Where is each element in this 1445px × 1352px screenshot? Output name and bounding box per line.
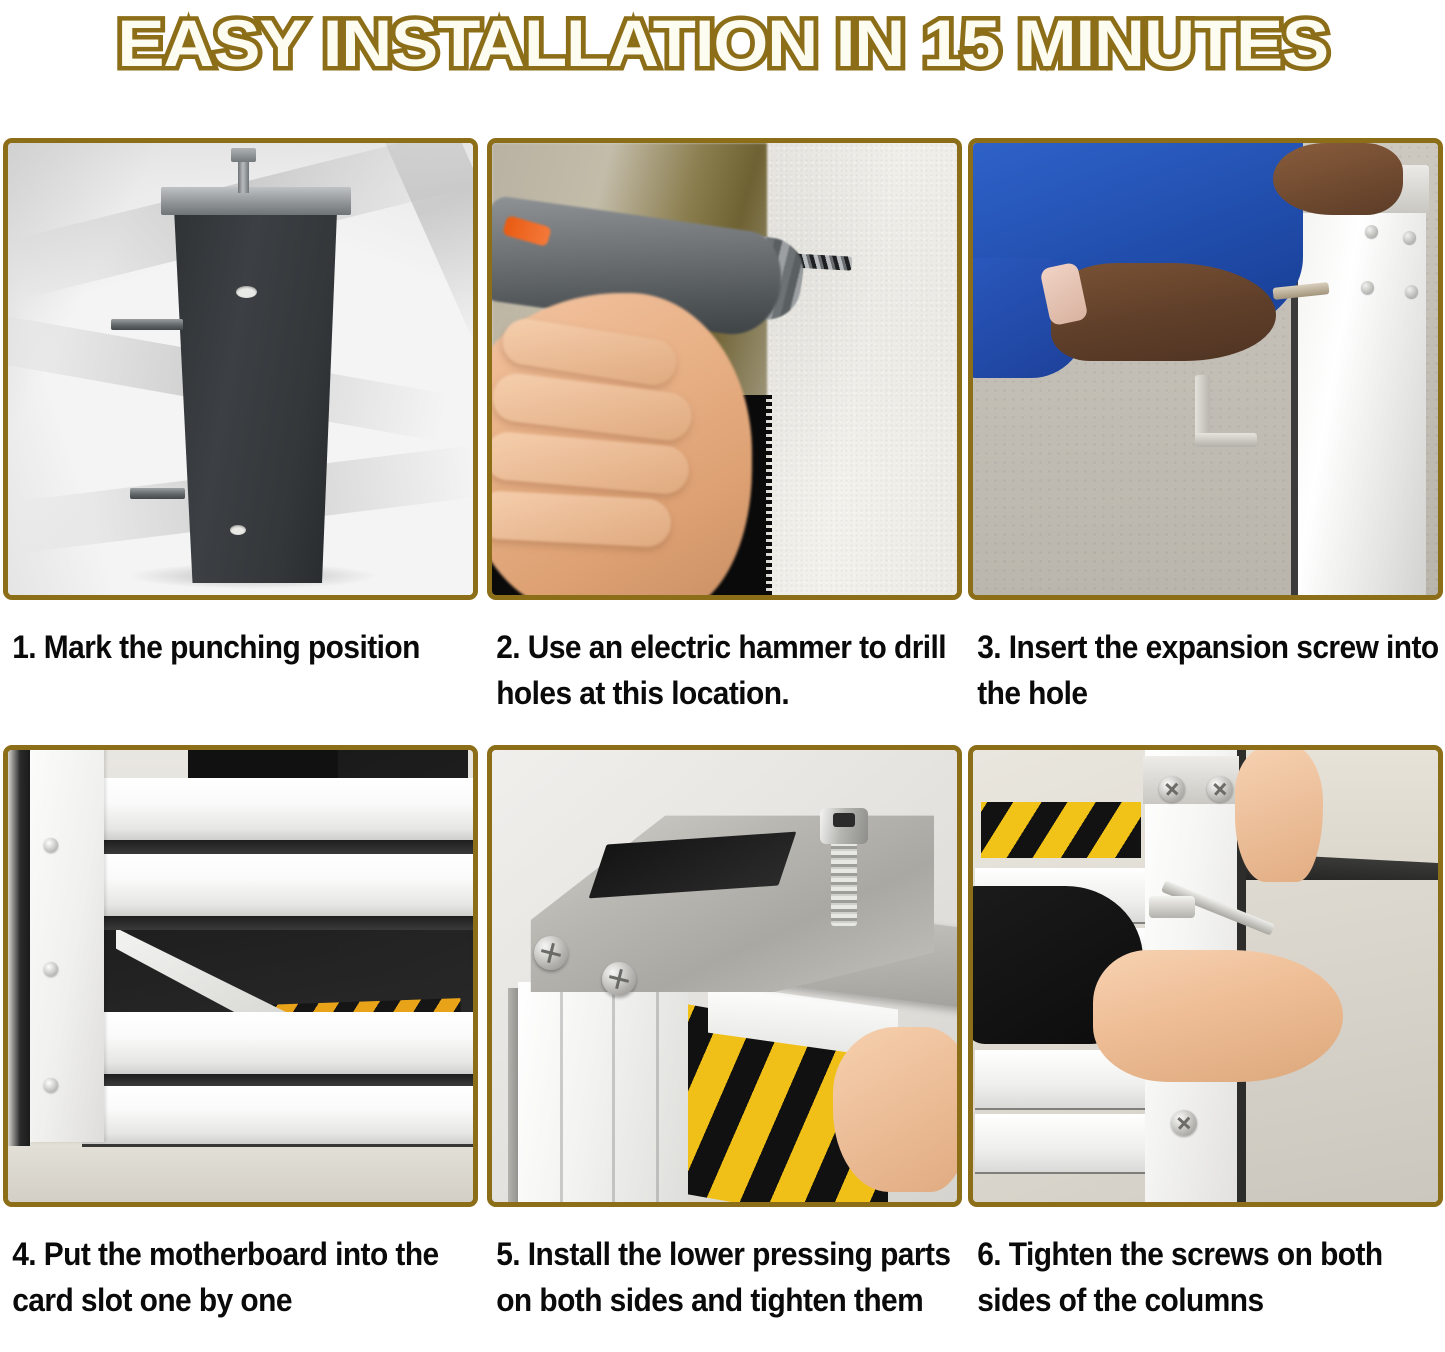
barrier-board bbox=[82, 1012, 473, 1074]
step-card-2: 2. Use an electric hammer to drill holes… bbox=[487, 138, 962, 716]
step-6-photo bbox=[973, 750, 1438, 1202]
page-title: EASY INSTALLATION IN 15 MINUTES bbox=[117, 10, 1328, 76]
barrier-board bbox=[82, 1086, 473, 1144]
card-slot bbox=[82, 840, 473, 854]
side-stud-upper bbox=[111, 319, 183, 330]
step-2-photo-frame bbox=[487, 138, 962, 600]
hex-bolt-shaft bbox=[831, 842, 857, 926]
column-screw bbox=[1171, 1110, 1197, 1136]
barrier-board bbox=[82, 854, 473, 916]
top-bolt-head bbox=[231, 148, 256, 162]
phillips-screw bbox=[534, 936, 568, 970]
column-screw bbox=[1365, 225, 1378, 238]
step-3-caption: 3. Insert the expansion screw into the h… bbox=[968, 624, 1445, 716]
allen-key-short-arm bbox=[1195, 433, 1257, 447]
hex-bolt bbox=[820, 808, 868, 928]
step-card-5: 5. Install the lower pressing parts on b… bbox=[487, 745, 962, 1323]
installer-upper-hand bbox=[1235, 750, 1323, 882]
step-4-photo-frame bbox=[3, 745, 478, 1207]
step-1-photo bbox=[8, 143, 473, 595]
floor-surface bbox=[8, 1140, 473, 1202]
post-top-cap bbox=[161, 187, 351, 215]
column-groove bbox=[612, 988, 615, 1202]
column-groove bbox=[560, 988, 563, 1202]
hex-bolt-socket bbox=[833, 813, 855, 827]
step-card-4: 4. Put the motherboard into the card slo… bbox=[3, 745, 478, 1323]
step-card-1: 1. Mark the punching position bbox=[3, 138, 478, 670]
card-slot bbox=[82, 1074, 473, 1086]
white-column bbox=[518, 982, 688, 1202]
step-1-photo-frame bbox=[3, 138, 478, 600]
column-screw bbox=[44, 962, 58, 976]
step-4-photo bbox=[8, 750, 473, 1202]
step-5-photo bbox=[492, 750, 957, 1202]
hazard-stripe-tape bbox=[981, 802, 1141, 858]
column-screw bbox=[44, 1078, 58, 1092]
column-screw bbox=[1405, 285, 1418, 298]
step-5-photo-frame bbox=[487, 745, 962, 1207]
step-3-photo bbox=[973, 143, 1438, 595]
step-6-caption: 6. Tighten the screws on both sides of t… bbox=[968, 1231, 1445, 1323]
step-6-photo-frame bbox=[968, 745, 1443, 1207]
column-screw bbox=[1403, 231, 1416, 244]
step-2-photo bbox=[492, 143, 957, 595]
column-screw bbox=[1159, 776, 1185, 802]
side-stud-lower bbox=[130, 488, 185, 499]
barrier-board bbox=[975, 1114, 1147, 1172]
worker-upper-hand bbox=[1273, 143, 1403, 215]
steps-grid: 1. Mark the punching position 2. Use an … bbox=[0, 86, 1445, 1352]
column-screw bbox=[44, 838, 58, 852]
column-screw bbox=[1361, 281, 1374, 294]
step-1-caption: 1. Mark the punching position bbox=[3, 624, 496, 670]
post-hole-upper bbox=[236, 286, 257, 298]
mounting-post bbox=[168, 193, 343, 583]
installer-fingers bbox=[833, 1027, 957, 1192]
column-groove bbox=[656, 988, 659, 1202]
post-hole-lower bbox=[230, 525, 246, 535]
step-3-photo-frame bbox=[968, 138, 1443, 600]
wall-surface bbox=[764, 143, 957, 595]
barrier-board bbox=[82, 778, 473, 840]
card-slot bbox=[82, 916, 473, 930]
installer-hand bbox=[1093, 950, 1343, 1082]
step-card-3: 3. Insert the expansion screw into the h… bbox=[968, 138, 1443, 716]
finger bbox=[492, 490, 672, 548]
step-card-6: 6. Tighten the screws on both sides of t… bbox=[968, 745, 1443, 1323]
column-screw bbox=[1207, 776, 1233, 802]
phillips-screw bbox=[602, 962, 636, 996]
step-5-caption: 5. Install the lower pressing parts on b… bbox=[487, 1231, 980, 1323]
white-column bbox=[30, 750, 104, 1142]
step-4-caption: 4. Put the motherboard into the card slo… bbox=[3, 1231, 496, 1323]
hex-key-handle bbox=[1149, 896, 1195, 918]
step-2-caption: 2. Use an electric hammer to drill holes… bbox=[487, 624, 980, 716]
column-shadow-edge bbox=[8, 750, 30, 1146]
title-bar: EASY INSTALLATION IN 15 MINUTES bbox=[0, 0, 1445, 86]
